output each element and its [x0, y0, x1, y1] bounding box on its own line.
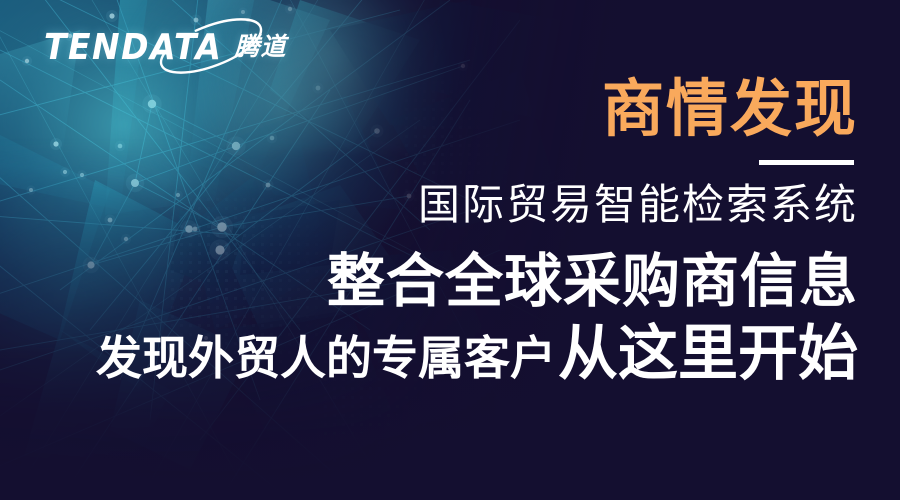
- headline-main: 整合全球采购商信息: [98, 250, 858, 314]
- headline-accent: 商情发现: [98, 76, 858, 143]
- tagline-emphasis: 从这里开始: [558, 324, 858, 384]
- logo-wordmark: TENDATA: [44, 29, 222, 65]
- logo-chinese-name: 腾道: [234, 34, 286, 59]
- subtitle: 国际贸易智能检索系统: [98, 181, 858, 228]
- copy-block: 商情发现 国际贸易智能检索系统 整合全球采购商信息 发现外贸人的专属客户 从这里…: [98, 76, 858, 384]
- brand-logo[interactable]: TENDATA 腾道: [44, 30, 286, 63]
- divider-row: [98, 160, 858, 165]
- divider-rule: [759, 160, 854, 165]
- tagline-row: 发现外贸人的专属客户 从这里开始: [98, 324, 858, 384]
- promotional-banner: TENDATA 腾道 商情发现 国际贸易智能检索系统 整合全球采购商信息 发现外…: [0, 0, 900, 500]
- tagline-lead: 发现外贸人的专属客户: [96, 335, 556, 381]
- logo-mark: TENDATA 腾道: [44, 30, 286, 63]
